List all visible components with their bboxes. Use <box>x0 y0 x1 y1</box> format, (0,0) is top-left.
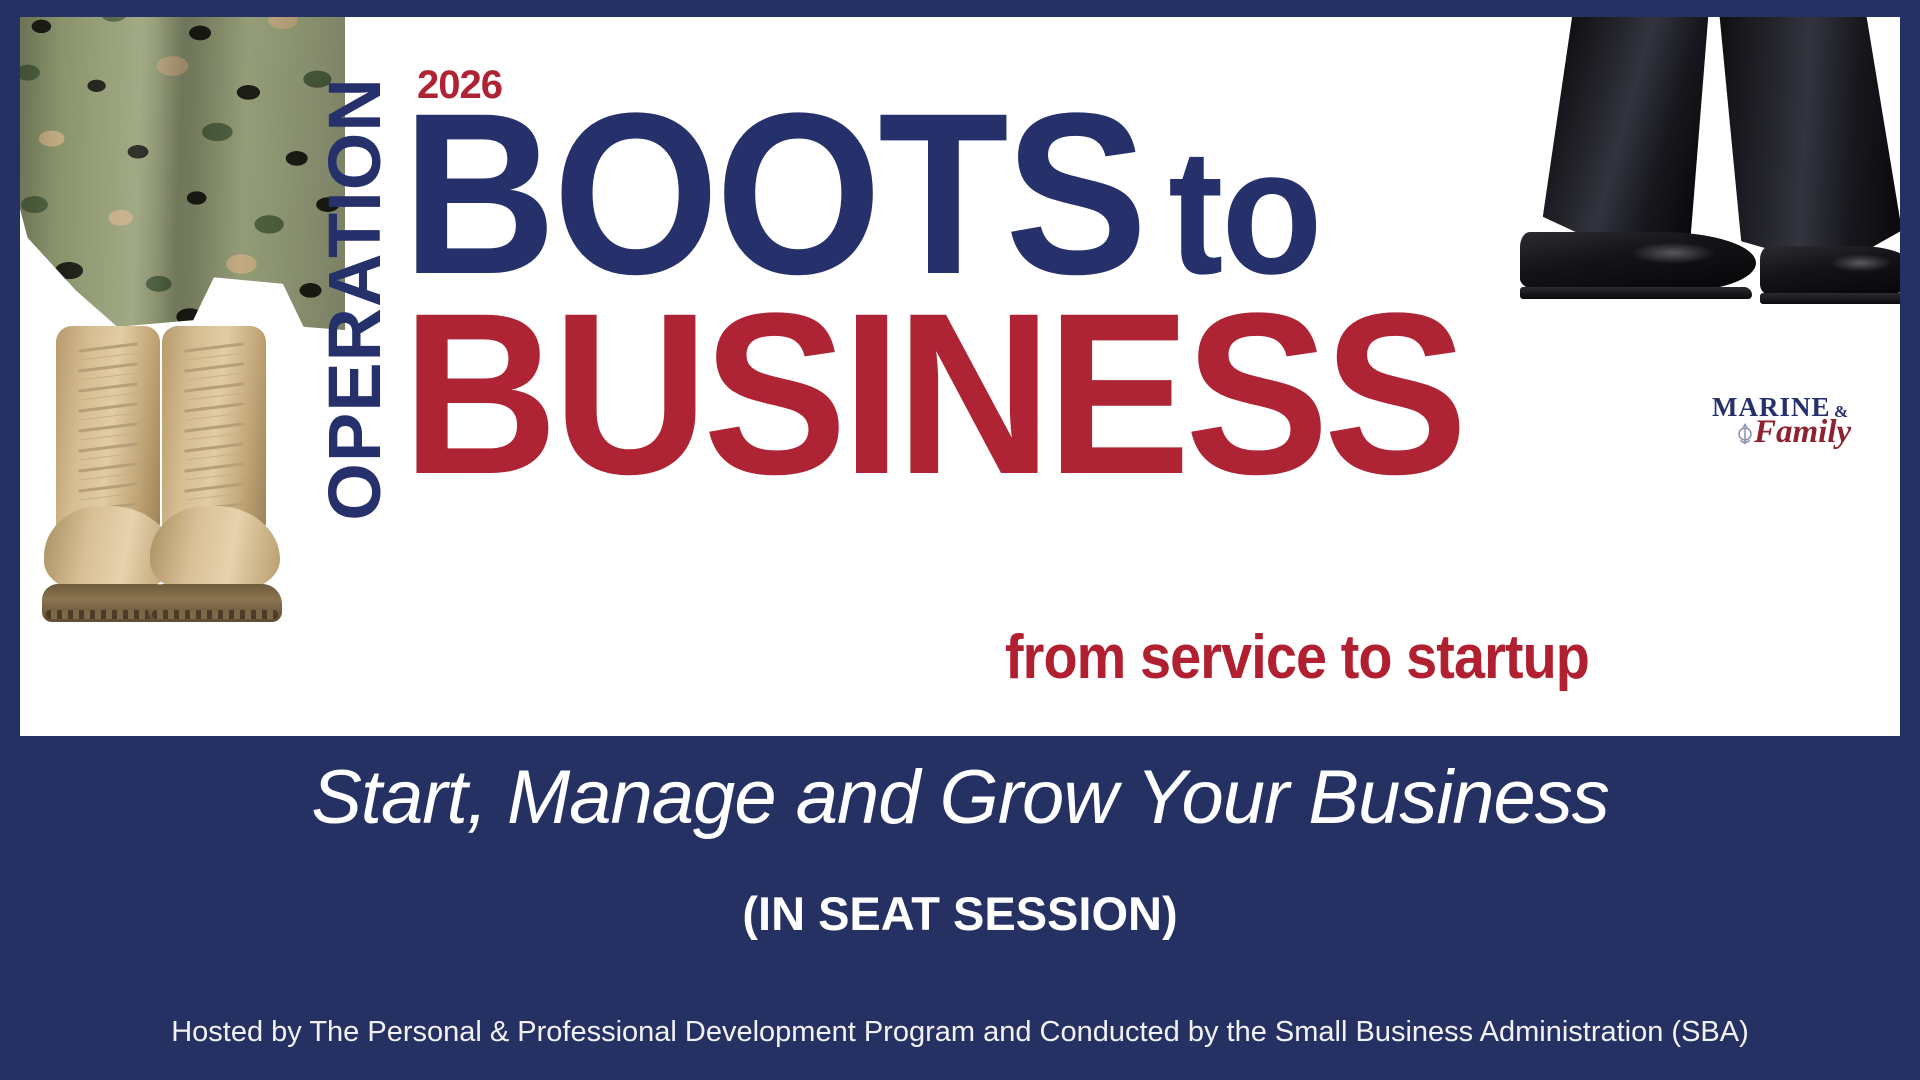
suit-trouser-back-graphic <box>1712 17 1900 268</box>
operation-vertical-word: OPERATION <box>310 67 400 537</box>
shoe-highlight <box>1830 254 1892 272</box>
dress-shoe-front-graphic <box>1520 232 1756 292</box>
boot-laces <box>78 342 138 522</box>
marine-and-family-logo: MARINE & Family <box>1712 392 1882 454</box>
business-trousers-dress-shoes-photo <box>1460 17 1900 310</box>
boot-laces <box>184 342 244 522</box>
shoe-highlight <box>1630 242 1716 264</box>
dress-shoe-back-graphic <box>1760 246 1900 298</box>
combat-boot-right-graphic <box>150 326 280 626</box>
hosted-by-text: Hosted by The Personal & Professional De… <box>0 1016 1920 1049</box>
hero-panel: OPERATION 2026 BOOTSto BUSINESS from ser… <box>20 17 1900 736</box>
eagle-globe-anchor-icon <box>1734 422 1756 446</box>
logo-family-word: Family <box>1754 414 1851 451</box>
headline-line-two: BUSINESS <box>402 279 1462 509</box>
boot-sole <box>148 584 282 622</box>
boots-to-business-flyer: OPERATION 2026 BOOTSto BUSINESS from ser… <box>0 0 1920 1080</box>
program-tagline: from service to startup <box>1005 622 1589 693</box>
marine-camo-boots-photo <box>20 17 345 640</box>
suit-trouser-front-graphic <box>1538 17 1715 258</box>
session-format-label: (IN SEAT SESSION) <box>0 886 1920 941</box>
lower-info-band: Start, Manage and Grow Your Business (IN… <box>0 736 1920 1080</box>
camouflage-trousers-graphic <box>20 17 345 330</box>
operation-label: OPERATION <box>318 64 392 534</box>
event-subtitle: Start, Manage and Grow Your Business <box>0 754 1920 841</box>
